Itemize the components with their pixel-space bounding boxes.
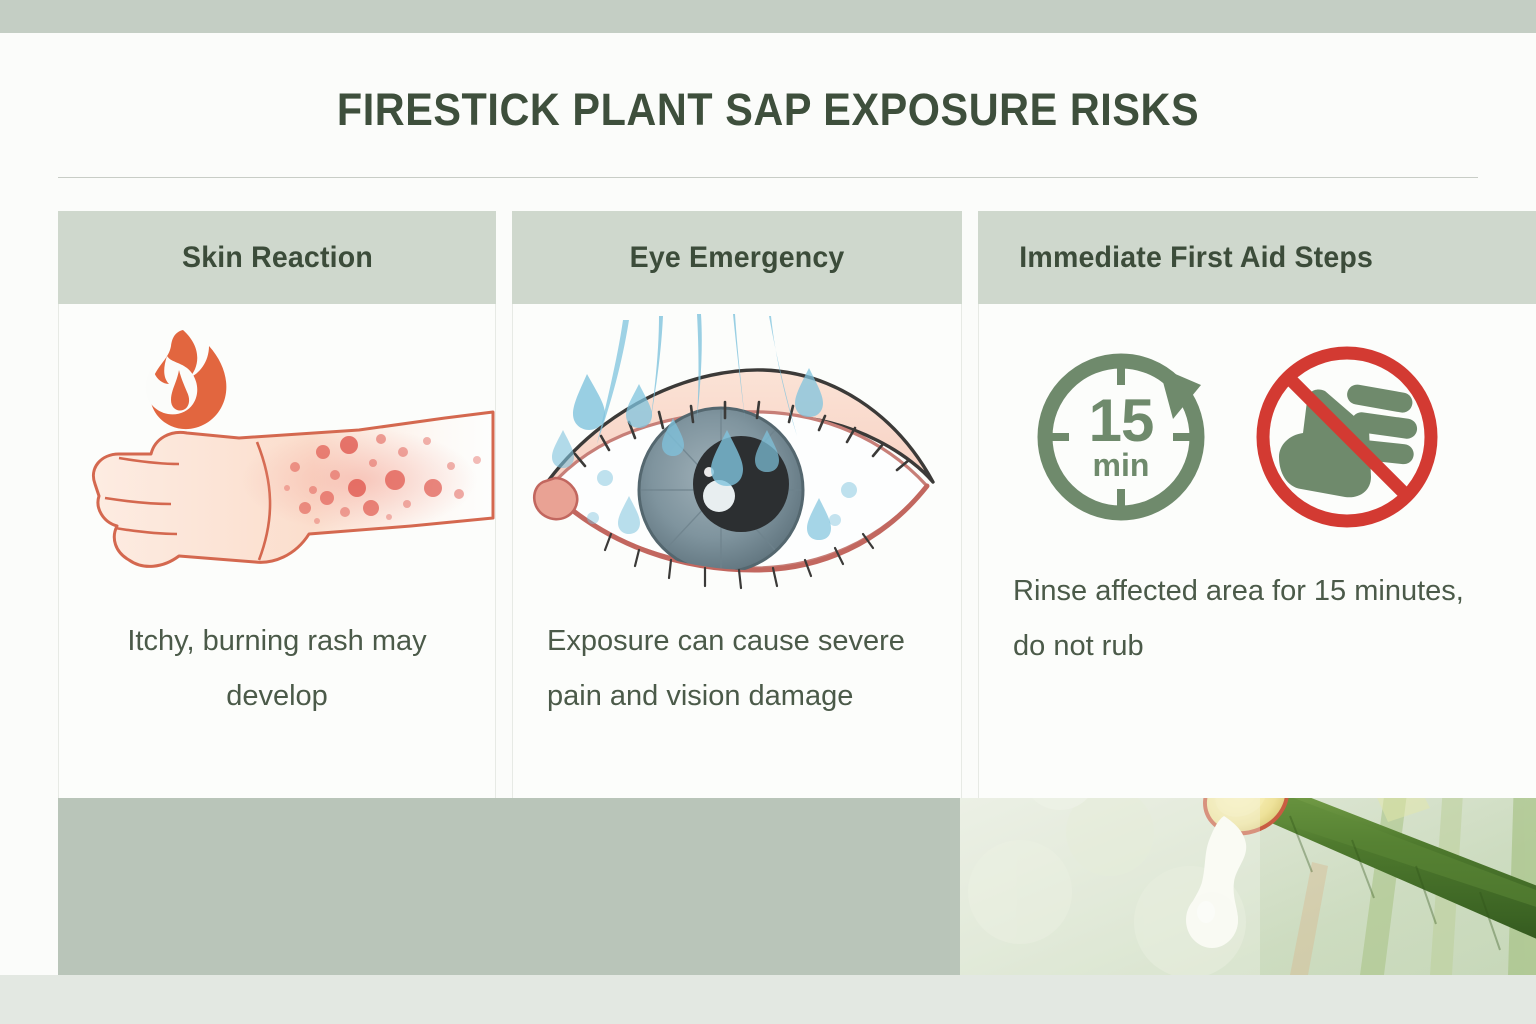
- hand-rash-illustration: [59, 312, 497, 602]
- caption-skin-reaction: Itchy, burning rash may develop: [59, 614, 495, 724]
- first-aid-icons: 15 min: [979, 322, 1523, 552]
- title-divider: [58, 177, 1478, 178]
- infographic-slide: FIRESTICK PLANT SAP EXPOSURE RISKS Skin …: [0, 0, 1536, 1024]
- caption-eye-emergency: Exposure can cause severe pain and visio…: [513, 614, 961, 724]
- top-accent-bar: [0, 0, 1536, 33]
- flame-icon: [146, 330, 227, 429]
- timer-15-min-icon: 15 min: [1023, 339, 1219, 535]
- bottom-accent-bar: [0, 975, 1536, 1024]
- column-eye-emergency: Eye Emergency: [512, 211, 962, 811]
- column-header-skin-reaction: Skin Reaction: [58, 211, 496, 304]
- page-title: FIRESTICK PLANT SAP EXPOSURE RISKS: [61, 84, 1474, 136]
- firestick-plant-sap-photo: [960, 798, 1536, 975]
- column-header-first-aid: Immediate First Aid Steps: [978, 211, 1536, 304]
- column-header-label: Skin Reaction: [182, 241, 373, 275]
- column-body-skin-reaction: Itchy, burning rash may develop: [58, 304, 496, 811]
- column-body-eye-emergency: Exposure can cause severe pain and visio…: [512, 304, 962, 811]
- timer-value: 15: [1089, 392, 1154, 449]
- column-header-eye-emergency: Eye Emergency: [512, 211, 962, 304]
- column-header-label: Immediate First Aid Steps: [1019, 241, 1373, 275]
- column-skin-reaction: Skin Reaction: [58, 211, 496, 811]
- column-header-label: Eye Emergency: [630, 241, 845, 275]
- eye-illustration: [513, 312, 963, 602]
- timer-unit: min: [1093, 449, 1150, 483]
- no-rub-prohibition-icon: [1249, 339, 1445, 535]
- bottom-accent-panel: [58, 798, 1536, 975]
- columns-container: Skin Reaction: [58, 211, 1536, 811]
- column-first-aid: Immediate First Aid Steps: [978, 211, 1536, 811]
- caption-first-aid: Rinse affected area for 15 minutes, do n…: [979, 564, 1536, 674]
- column-body-first-aid: 15 min: [978, 304, 1536, 805]
